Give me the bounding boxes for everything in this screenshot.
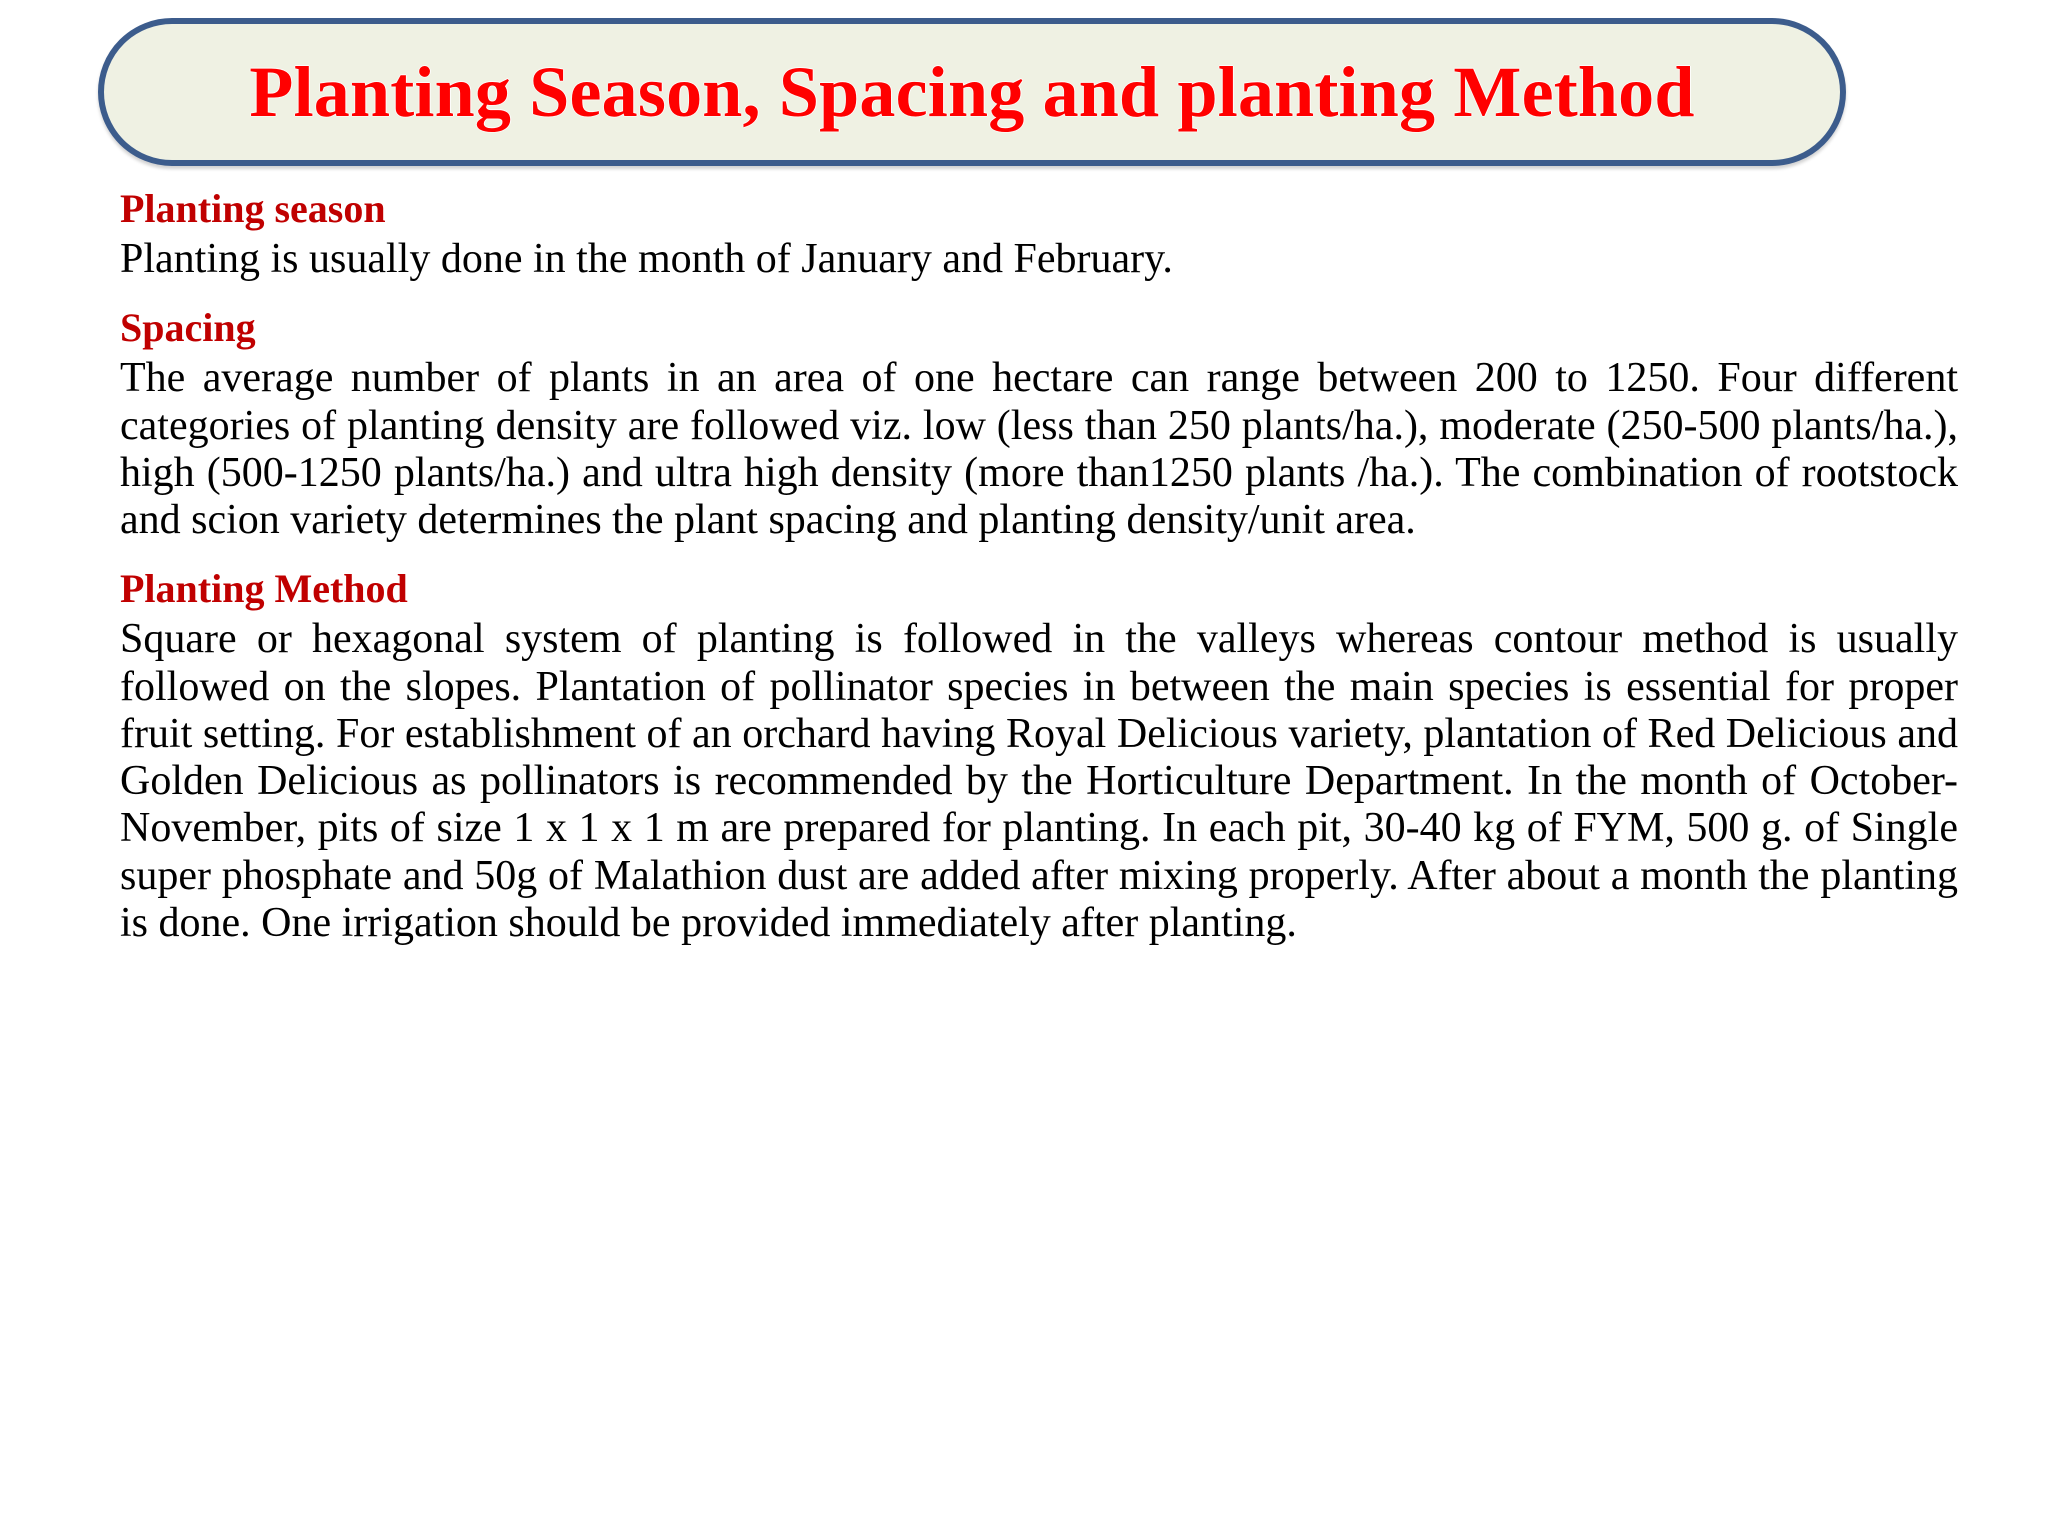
- section-planting-season: Planting season Planting is usually done…: [120, 186, 1958, 283]
- section-paragraph-planting-method: Square or hexagonal system of planting i…: [120, 616, 1958, 947]
- section-heading-planting-season: Planting season: [120, 186, 1958, 232]
- slide-title: Planting Season, Spacing and planting Me…: [249, 56, 1694, 128]
- slide-canvas: Planting Season, Spacing and planting Me…: [0, 0, 2048, 1536]
- section-paragraph-spacing: The average number of plants in an area …: [120, 355, 1958, 544]
- section-planting-method: Planting Method Square or hexagonal syst…: [120, 566, 1958, 947]
- title-banner: Planting Season, Spacing and planting Me…: [98, 18, 1846, 166]
- section-heading-planting-method: Planting Method: [120, 566, 1958, 612]
- section-spacing: Spacing The average number of plants in …: [120, 305, 1958, 544]
- section-paragraph-planting-season: Planting is usually done in the month of…: [120, 236, 1958, 283]
- slide-body: Planting season Planting is usually done…: [120, 186, 1958, 947]
- section-heading-spacing: Spacing: [120, 305, 1958, 351]
